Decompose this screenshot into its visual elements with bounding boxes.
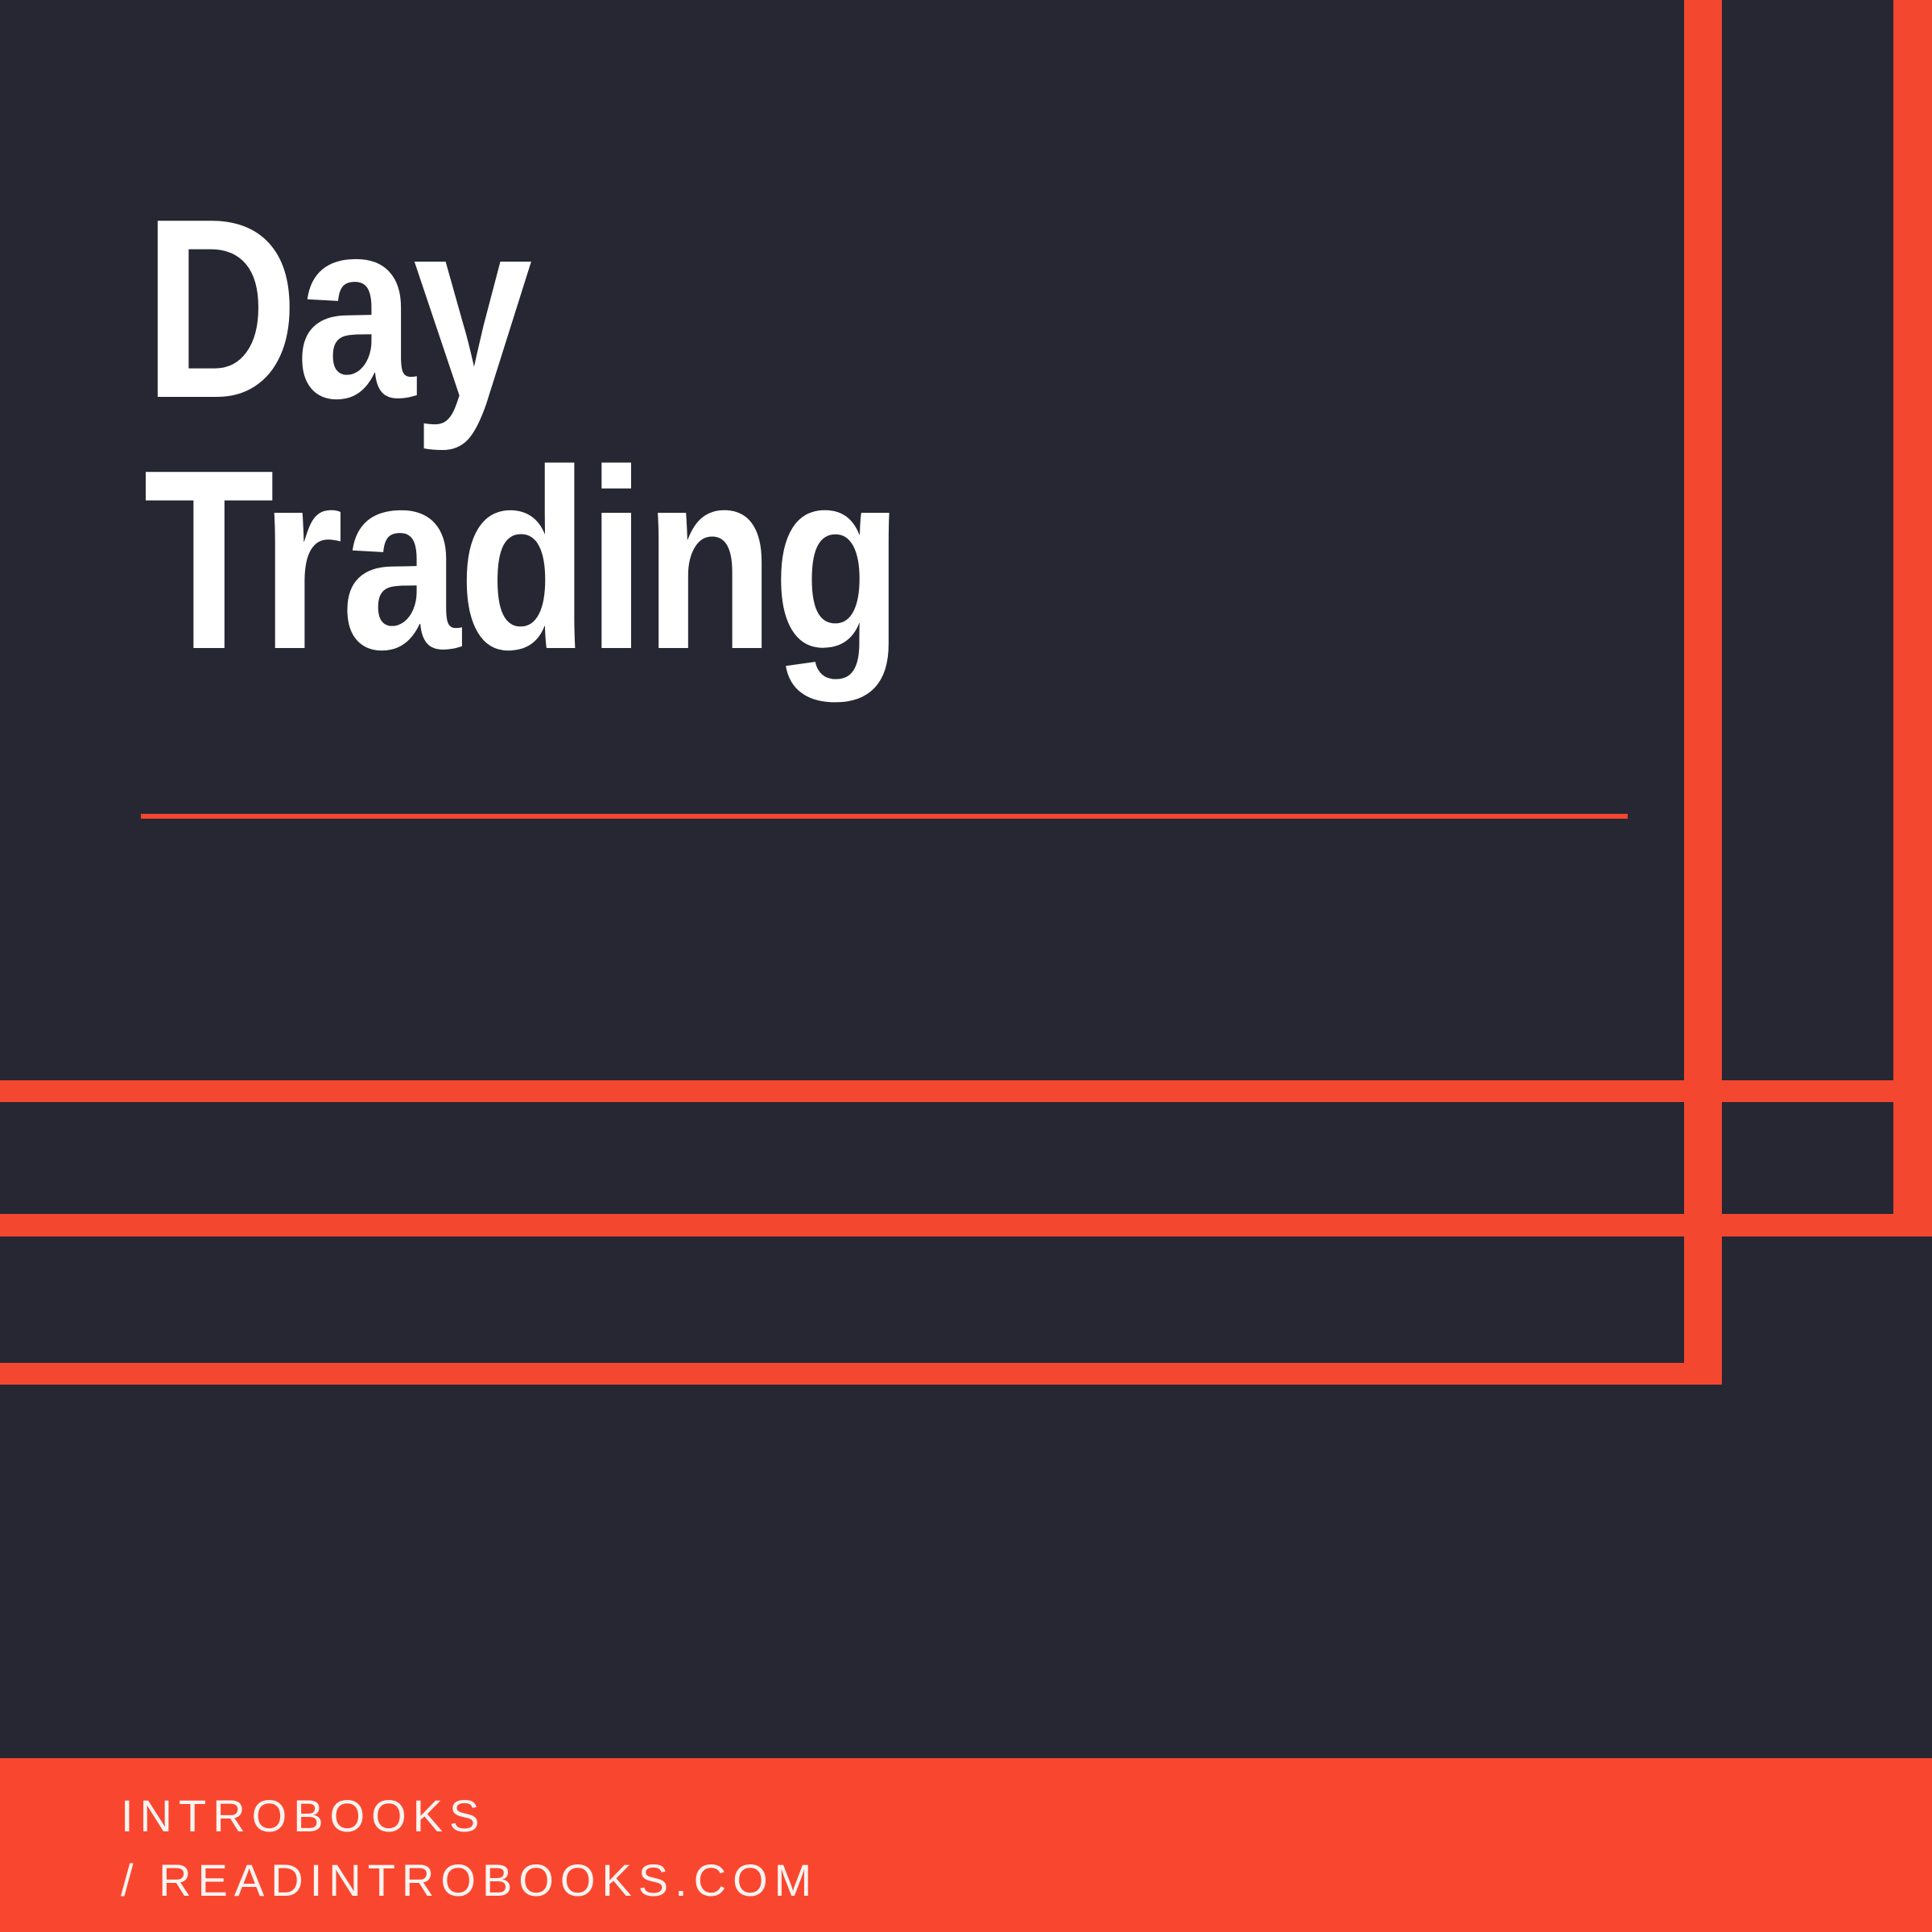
- publisher-credit: INTROBOOKS / READINTROBOOKS.COM: [121, 1784, 818, 1912]
- book-title-line-1: Day: [143, 184, 1428, 435]
- book-cover: Day Trading INTROBOOKS / READINTROBOOKS.…: [0, 0, 1932, 1932]
- publisher-name: INTROBOOKS: [121, 1784, 818, 1848]
- vertical-rule-outer-icon: [1893, 0, 1932, 1236]
- horizontal-rule-3-icon: [0, 1363, 1722, 1385]
- vertical-rule-inner-icon: [1684, 0, 1722, 1385]
- horizontal-rule-1-icon: [0, 1080, 1932, 1102]
- publisher-website: / READINTROBOOKS.COM: [121, 1848, 818, 1913]
- footer-band: INTROBOOKS / READINTROBOOKS.COM: [0, 1758, 1932, 1932]
- book-title: Day Trading: [143, 184, 1673, 685]
- title-underline-rule-icon: [141, 814, 1628, 819]
- book-title-line-2: Trading: [143, 435, 1428, 686]
- horizontal-rule-2-icon: [0, 1214, 1932, 1236]
